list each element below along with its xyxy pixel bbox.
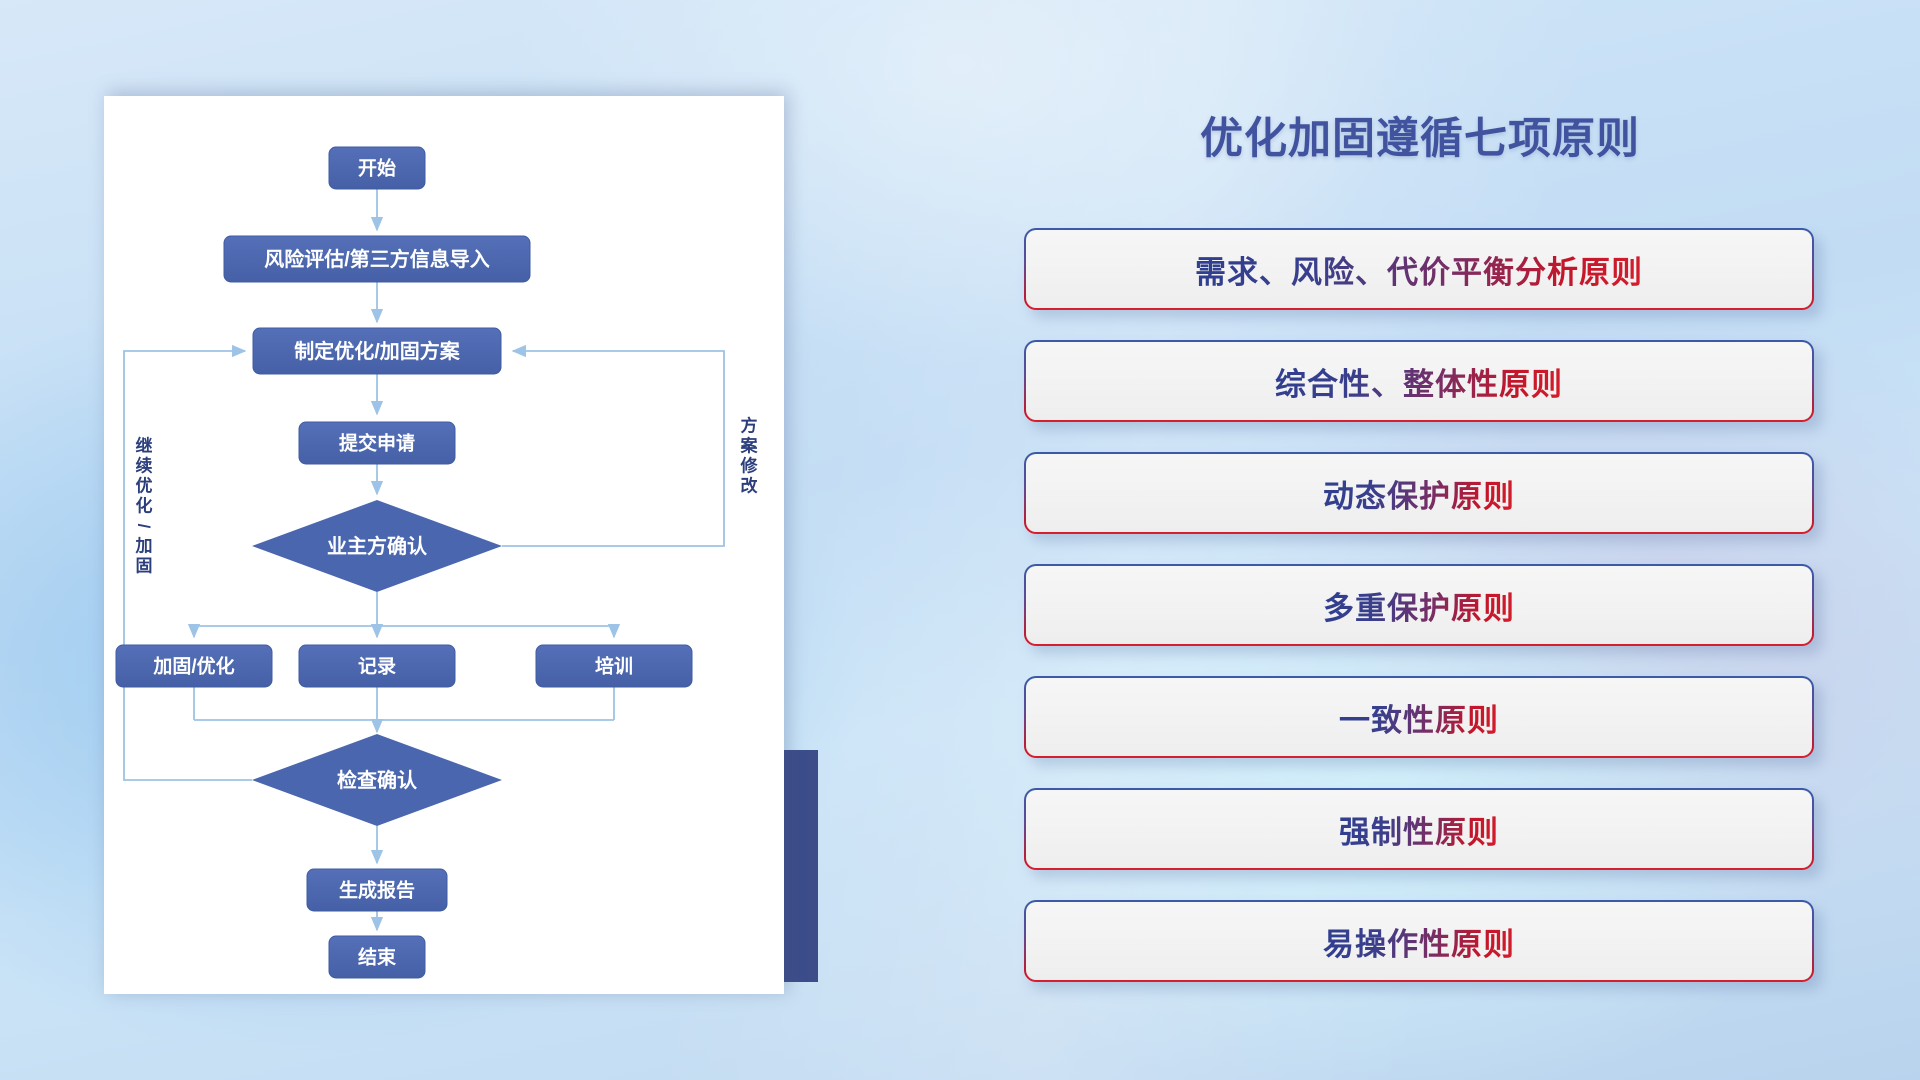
principle-card-border: 一致性原则: [1024, 676, 1814, 758]
principle-card[interactable]: 一致性原则: [1024, 676, 1822, 766]
flow-node-train: 培训: [536, 645, 692, 687]
principle-card[interactable]: 易操作性原则: [1024, 900, 1822, 990]
principle-card-inner: 综合性、整体性原则: [1026, 342, 1812, 420]
principle-card-inner: 需求、风险、代价平衡分析原则: [1026, 230, 1812, 308]
node-label: 提交申请: [339, 432, 415, 455]
flow-node-ownercheck: 业主方确认: [252, 500, 502, 592]
edge-label-char: 化: [136, 496, 153, 516]
flow-node-risk: 风险评估/第三方信息导入: [224, 236, 530, 282]
flowchart-diagram: 开始风险评估/第三方信息导入制定优化/加固方案提交申请业主方确认加固/优化记录培…: [104, 96, 784, 994]
flow-nodes: 开始风险评估/第三方信息导入制定优化/加固方案提交申请业主方确认加固/优化记录培…: [116, 147, 692, 978]
flowchart-card: 开始风险评估/第三方信息导入制定优化/加固方案提交申请业主方确认加固/优化记录培…: [104, 96, 784, 994]
node-label: 业主方确认: [327, 534, 428, 558]
node-label: 开始: [358, 157, 396, 180]
edge-label-char: 修: [740, 456, 759, 476]
principle-label: 一致性原则: [1339, 695, 1499, 740]
node-label: 结束: [358, 946, 397, 969]
node-label: 记录: [358, 656, 396, 678]
edge-label-char: 改: [741, 476, 759, 496]
right-panel: 优化加固遵循七项原则 需求、风险、代价平衡分析原则综合性、整体性原则动态保护原则…: [1020, 0, 1860, 1080]
principle-card[interactable]: 需求、风险、代价平衡分析原则: [1024, 228, 1822, 318]
principle-card-border: 易操作性原则: [1024, 900, 1814, 982]
node-label: 风险评估/第三方信息导入: [264, 247, 490, 271]
node-label: 检查确认: [337, 768, 418, 792]
principle-card[interactable]: 强制性原则: [1024, 788, 1822, 878]
flow-node-reinforce: 加固/优化: [116, 645, 272, 687]
node-label: 加固/优化: [152, 655, 234, 678]
principle-card[interactable]: 综合性、整体性原则: [1024, 340, 1822, 430]
edge-label-char: 优: [136, 476, 153, 496]
flow-node-start: 开始: [329, 147, 425, 189]
principle-card-border: 需求、风险、代价平衡分析原则: [1024, 228, 1814, 310]
principle-label: 动态保护原则: [1323, 471, 1515, 516]
principle-card-inner: 强制性原则: [1026, 790, 1812, 868]
principle-card-border: 综合性、整体性原则: [1024, 340, 1814, 422]
principle-label: 易操作性原则: [1323, 919, 1515, 964]
edge-label-char: 方: [741, 416, 758, 436]
principle-card-inner: 多重保护原则: [1026, 566, 1812, 644]
principle-card-inner: 一致性原则: [1026, 678, 1812, 756]
principle-card-inner: 动态保护原则: [1026, 454, 1812, 532]
node-label: 制定优化/加固方案: [294, 339, 461, 363]
principle-card[interactable]: 多重保护原则: [1024, 564, 1822, 654]
edge-label-char: 继: [136, 436, 153, 456]
principle-card-border: 动态保护原则: [1024, 452, 1814, 534]
edge-label-char: /: [135, 524, 154, 529]
principle-card[interactable]: 动态保护原则: [1024, 452, 1822, 542]
flow-node-inspect: 检查确认: [252, 734, 502, 826]
flow-node-submit: 提交申请: [299, 422, 455, 464]
edge-label-char: 续: [136, 456, 153, 476]
flow-node-end: 结束: [329, 936, 425, 978]
node-label: 培训: [595, 655, 633, 678]
edge-label-char: 加: [135, 537, 153, 556]
flow-node-record: 记录: [299, 645, 455, 687]
flow-node-report: 生成报告: [307, 869, 447, 911]
edge-label-char: 固: [136, 557, 153, 576]
principle-card-border: 强制性原则: [1024, 788, 1814, 870]
edge-label-loop-right: 方案修改: [740, 416, 759, 496]
edge-label-char: 案: [740, 436, 759, 456]
node-label: 生成报告: [339, 879, 415, 902]
principle-label: 需求、风险、代价平衡分析原则: [1195, 247, 1643, 292]
flow-node-plan: 制定优化/加固方案: [253, 328, 501, 374]
principle-card-inner: 易操作性原则: [1026, 902, 1812, 980]
page-title: 优化加固遵循七项原则: [1020, 104, 1820, 166]
principle-label: 多重保护原则: [1323, 583, 1515, 628]
principles-list: 需求、风险、代价平衡分析原则综合性、整体性原则动态保护原则多重保护原则一致性原则…: [1024, 228, 1822, 1012]
principle-label: 综合性、整体性原则: [1275, 359, 1563, 404]
principle-card-border: 多重保护原则: [1024, 564, 1814, 646]
principle-label: 强制性原则: [1339, 807, 1499, 852]
edge-label-loop-left: 继续优化/加固: [135, 436, 154, 576]
